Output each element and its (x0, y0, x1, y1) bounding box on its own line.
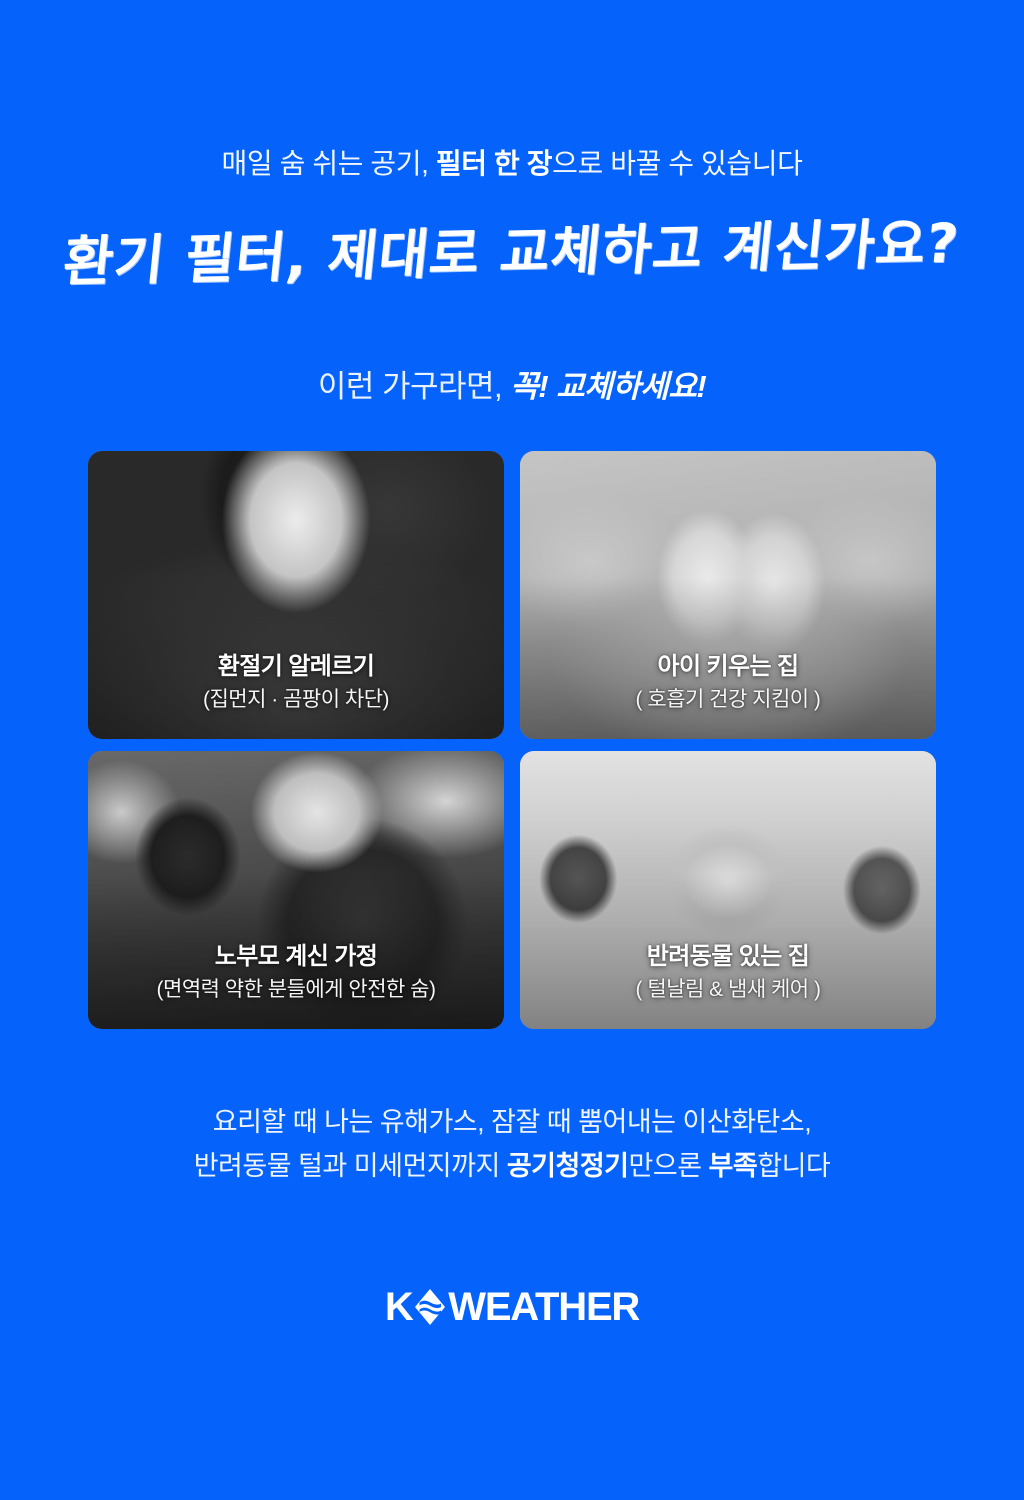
card-title: 반려동물 있는 집 (534, 942, 922, 972)
subprompt-before: 이런 가구라면, (318, 369, 510, 404)
card-subtitle: (면역력 약한 분들에게 안전한 숨) (102, 977, 490, 1003)
closing-strong-airpurifier: 공기청정기 (507, 1151, 629, 1181)
card-caption: 환절기 알레르기 (집먼지 · 곰팡이 차단) (88, 652, 504, 713)
card-title: 아이 키우는 집 (534, 652, 922, 682)
logo-wordmark: WEATHER (448, 1287, 639, 1327)
closing-line2-after: 합니다 (757, 1151, 830, 1181)
closing-line-1: 요리할 때 나는 유해가스, 잠잘 때 뿜어내는 이산화탄소, (194, 1101, 831, 1145)
kicker-before: 매일 숨 쉬는 공기, (221, 148, 435, 179)
card-subtitle: ( 호흡기 건강 지킴이 ) (534, 687, 922, 713)
benefit-card-grid: 환절기 알레르기 (집먼지 · 곰팡이 차단) 아이 키우는 집 ( 호흡기 건… (88, 451, 936, 1029)
card-allergy[interactable]: 환절기 알레르기 (집먼지 · 곰팡이 차단) (88, 451, 504, 739)
card-title: 노부모 계신 가정 (102, 942, 490, 972)
card-caption: 아이 키우는 집 ( 호흡기 건강 지킴이 ) (520, 652, 936, 713)
card-subtitle: ( 털날림 & 냄새 케어 ) (534, 977, 922, 1003)
card-baby[interactable]: 아이 키우는 집 ( 호흡기 건강 지킴이 ) (520, 451, 936, 739)
kweather-diamond-wave-logo-mark (413, 1287, 447, 1327)
closing-copy: 요리할 때 나는 유해가스, 잠잘 때 뿜어내는 이산화탄소, 반려동물 털과 … (194, 1101, 831, 1188)
card-pets[interactable]: 반려동물 있는 집 ( 털날림 & 냄새 케어 ) (520, 751, 936, 1029)
kicker-line: 매일 숨 쉬는 공기, 필터 한 장으로 바꿀 수 있습니다 (221, 145, 802, 183)
brand-logo[interactable]: K WEATHER (385, 1287, 639, 1327)
card-elderly[interactable]: 노부모 계신 가정 (면역력 약한 분들에게 안전한 숨) (88, 751, 504, 1029)
kicker-strong: 필터 한 장 (436, 148, 552, 179)
card-title: 환절기 알레르기 (102, 652, 490, 682)
logo-letter-k: K (385, 1287, 412, 1327)
subprompt-emphasis: 꼭! 교체하세요! (510, 369, 706, 404)
subprompt-line: 이런 가구라면, 꼭! 교체하세요! (318, 367, 706, 407)
card-caption: 노부모 계신 가정 (면역력 약한 분들에게 안전한 숨) (88, 942, 504, 1003)
headline: 환기 필터, 제대로 교체하고 계신가요? (65, 205, 958, 291)
closing-line-2: 반려동물 털과 미세먼지까지 공기청정기만으론 부족합니다 (194, 1145, 831, 1189)
closing-line2-middle: 만으론 (629, 1151, 709, 1181)
closing-strong-insufficient: 부족 (709, 1151, 758, 1181)
headline-text: 환기 필터, 제대로 교체하고 계신가요? (60, 199, 963, 297)
card-subtitle: (집먼지 · 곰팡이 차단) (102, 687, 490, 713)
closing-line2-before: 반려동물 털과 미세먼지까지 (194, 1151, 507, 1181)
poster-root: 매일 숨 쉬는 공기, 필터 한 장으로 바꿀 수 있습니다 환기 필터, 제대… (0, 0, 1024, 1500)
kicker-after: 으로 바꿀 수 있습니다 (552, 148, 802, 179)
card-caption: 반려동물 있는 집 ( 털날림 & 냄새 케어 ) (520, 942, 936, 1003)
